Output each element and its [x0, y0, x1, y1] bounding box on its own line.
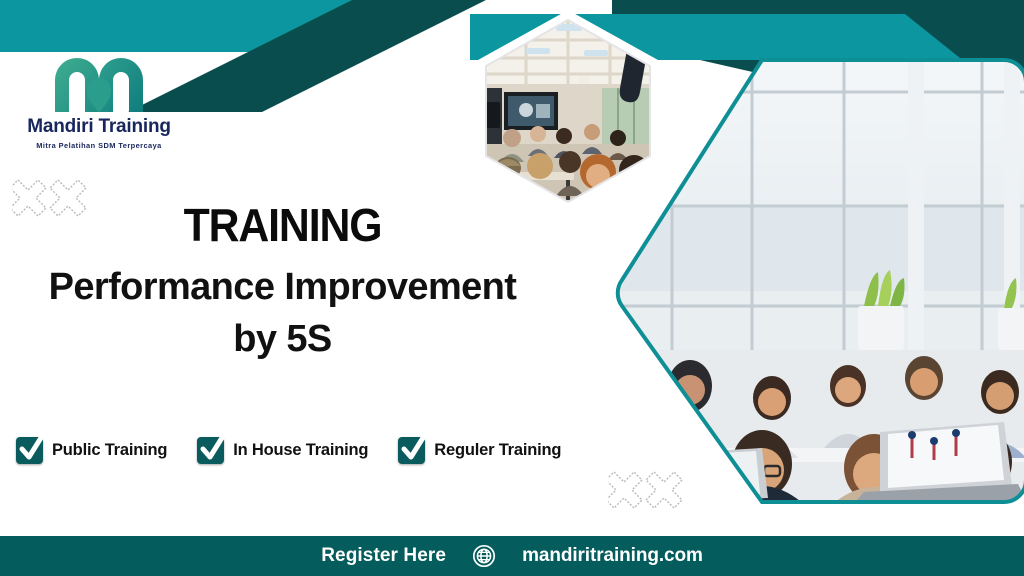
option-reguler-training[interactable]: Reguler Training	[398, 437, 561, 464]
checkbox-checked-icon[interactable]	[398, 437, 425, 464]
page-title-line1: Performance Improvement	[49, 266, 517, 308]
brand-logo: Mandiri Training Mitra Pelatihan SDM Ter…	[14, 52, 184, 150]
checkbox-checked-icon[interactable]	[197, 437, 224, 464]
banner-canvas: Mandiri Training Mitra Pelatihan SDM Ter…	[0, 0, 1024, 576]
page-title-line2: by 5S	[233, 318, 331, 360]
option-label: Reguler Training	[434, 441, 561, 460]
option-in-house-training[interactable]: In House Training	[197, 437, 368, 464]
page-title: Performance Improvement by 5S	[0, 261, 565, 366]
hexagon-seminar-photo	[452, 6, 684, 238]
training-type-list: Public Training In House Training Regule…	[16, 437, 561, 464]
option-public-training[interactable]: Public Training	[16, 437, 167, 464]
footer-bar: Register Here mandiritraining.com	[0, 536, 1024, 576]
checkbox-checked-icon[interactable]	[16, 437, 43, 464]
website-url[interactable]: mandiritraining.com	[522, 545, 703, 567]
brand-tagline: Mitra Pelatihan SDM Terpercaya	[14, 141, 184, 150]
option-label: Public Training	[52, 441, 167, 460]
option-label: In House Training	[233, 441, 368, 460]
brand-name: Mandiri Training	[14, 116, 184, 138]
register-here-label[interactable]: Register Here	[321, 545, 446, 567]
globe-icon	[472, 544, 496, 568]
mandiri-m-arch-logo	[49, 52, 149, 114]
